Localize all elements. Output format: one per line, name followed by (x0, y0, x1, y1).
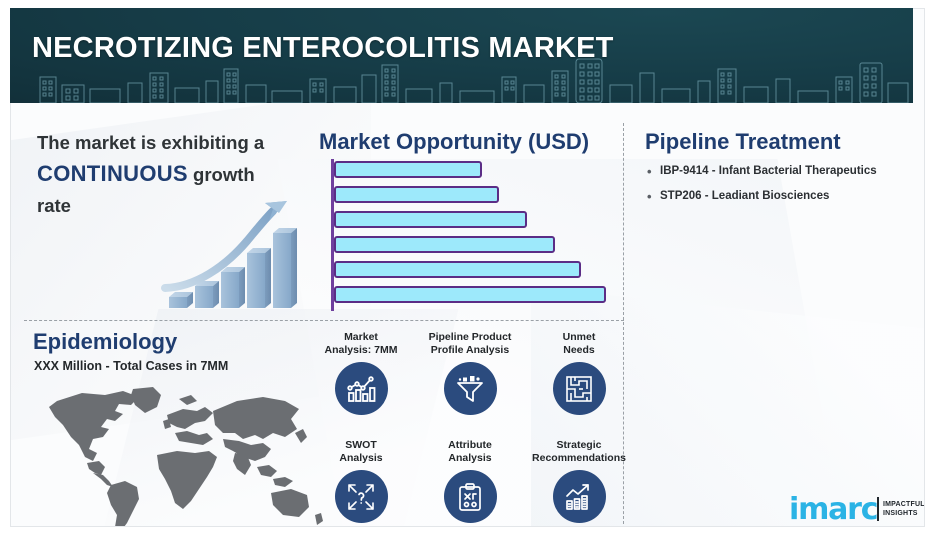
intro-line-3: rate (37, 195, 71, 216)
imarc-tagline-line1: IMPACTFUL (883, 501, 925, 508)
icon-cell-label-line2: Recommendations (532, 452, 626, 464)
maze-icon[interactable] (553, 362, 606, 415)
horizontal-dashed-divider (24, 320, 624, 321)
chart-bar (334, 211, 527, 228)
icon-cell-label: Unmet Needs (525, 331, 633, 358)
icon-cell-label: Pipeline Product Profile Analysis (416, 331, 524, 358)
icon-cell-market-analysis[interactable]: Market Analysis: 7MM (307, 331, 415, 415)
epidemiology-title: Epidemiology (33, 329, 177, 355)
chart-bar (334, 261, 581, 278)
imarc-tagline-line2: INSIGHTS (883, 510, 918, 517)
pipeline-list-item: STP206 - Leadiant Biosciences (647, 190, 925, 202)
icon-cell-label-line1: SWOT (345, 439, 377, 451)
icon-cell-label-line2: Needs (563, 344, 595, 356)
swot-arrows-question-icon[interactable] (335, 470, 388, 523)
icon-cell-label: Attribute Analysis (416, 439, 524, 466)
intro-line-1: The market is exhibiting a (37, 132, 264, 153)
icon-cell-swot-analysis[interactable]: SWOT Analysis (307, 439, 415, 523)
imarc-tagline: IMPACTFUL INSIGHTS (883, 500, 925, 518)
icon-cell-label-line1: Market (344, 331, 378, 343)
chart-bar (334, 161, 482, 178)
icon-cell-pipeline-product-profile[interactable]: Pipeline Product Profile Analysis (416, 331, 524, 415)
clipboard-icon[interactable] (444, 470, 497, 523)
chart-bar (334, 236, 555, 253)
market-opportunity-title: Market Opportunity (USD) (319, 129, 589, 155)
imarc-wordmark: imarc (789, 495, 877, 525)
logo-separator (877, 497, 879, 521)
growth-arrow-bars-icon[interactable] (553, 470, 606, 523)
icon-cell-attribute-analysis[interactable]: Attribute Analysis (416, 439, 524, 523)
icon-cell-label: Strategic Recommendations (525, 439, 633, 466)
icon-cell-label-line1: Attribute (448, 439, 492, 451)
bar-chart-line-icon[interactable] (335, 362, 388, 415)
intro-highlight: CONTINUOUS (37, 161, 188, 186)
icon-cell-label-line1: Strategic (557, 439, 602, 451)
pipeline-list-item: IBP-9414 - Infant Bacterial Therapeutics (647, 165, 925, 177)
market-opportunity-chart (331, 159, 621, 311)
icon-cell-unmet-needs[interactable]: Unmet Needs (525, 331, 633, 415)
imarc-logo: imarc IMPACTFUL INSIGHTS (789, 493, 924, 527)
header-banner: NECROTIZING ENTEROCOLITIS MARKET (10, 8, 913, 103)
icon-cell-label-line2: Analysis: 7MM (325, 344, 398, 356)
icon-cell-label-line1: Unmet (563, 331, 596, 343)
epidemiology-subtitle: XXX Million - Total Cases in 7MM (34, 359, 228, 373)
icon-cell-label-line1: Pipeline Product (429, 331, 512, 343)
icon-cell-label: SWOT Analysis (307, 439, 415, 466)
chart-bar (334, 286, 606, 303)
growth-bar-chart-arrow-icon (161, 195, 306, 311)
world-map-icon (27, 381, 327, 527)
pipeline-treatment-title: Pipeline Treatment (645, 129, 841, 155)
intro-line-2-rest: growth (188, 164, 255, 185)
icon-cell-label-line2: Profile Analysis (431, 344, 509, 356)
infographic-page: Market Opportunity (USD) The market is e… (0, 0, 933, 533)
page-title: NECROTIZING ENTEROCOLITIS MARKET (32, 32, 614, 65)
chart-bar (334, 186, 499, 203)
icon-cell-strategic-recommendations[interactable]: Strategic Recommendations (525, 439, 633, 523)
funnel-icon[interactable] (444, 362, 497, 415)
icon-cell-label-line2: Analysis (339, 452, 382, 464)
icon-cell-label: Market Analysis: 7MM (307, 331, 415, 358)
icon-cell-label-line2: Analysis (448, 452, 491, 464)
